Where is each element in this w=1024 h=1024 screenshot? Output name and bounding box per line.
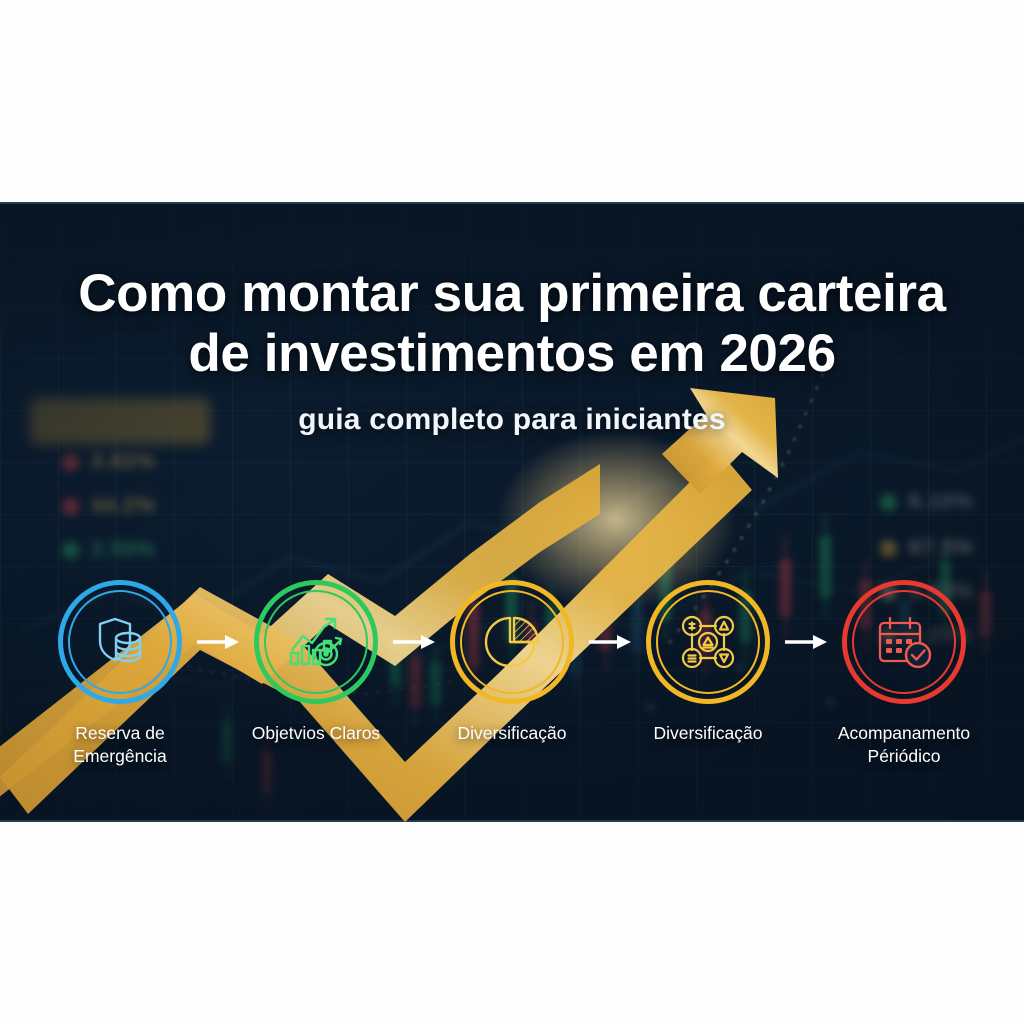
arrow-right-icon — [589, 633, 631, 651]
step-ring-1[interactable]: [data-name="step-ring-1"]::before,[data-… — [58, 580, 182, 704]
step-reserva-de-emergencia[interactable]: [data-name="step-ring-1"]::before,[data-… — [44, 580, 196, 769]
growth-chart-target-icon — [284, 610, 348, 674]
step-connector-1 — [196, 580, 240, 704]
step-label-3: Diversificação — [458, 722, 567, 745]
page-subtitle: guia completo para iniciantes — [40, 403, 984, 437]
banner-bottom-edge — [0, 820, 1024, 822]
page-title-line-1: Como montar sua primeira carteira — [40, 264, 984, 324]
step-ring-2[interactable]: [data-name="step-ring-2"]::before,[data-… — [254, 580, 378, 704]
arrow-right-icon — [197, 633, 239, 651]
pie-chart-icon — [480, 610, 544, 674]
network-nodes-icon — [676, 610, 740, 674]
steps-pipeline: [data-name="step-ring-1"]::before,[data-… — [0, 580, 1024, 769]
step-label-1: Reserva de Emergência — [45, 722, 195, 769]
step-objetvios-claros[interactable]: [data-name="step-ring-2"]::before,[data-… — [240, 580, 392, 745]
step-label-5: Acompanamento Périódico — [829, 722, 979, 769]
step-acompanamento-periodico[interactable]: [data-name="step-ring-5"]::before,[data-… — [828, 580, 980, 769]
step-label-4: Diversificação — [654, 722, 763, 745]
step-connector-4 — [784, 580, 828, 704]
step-connector-3 — [588, 580, 632, 704]
step-label-2: Objetvios Claros — [252, 722, 380, 745]
arrow-right-icon — [785, 633, 827, 651]
shield-coins-icon — [88, 610, 152, 674]
banner-top-edge — [0, 202, 1024, 204]
step-diversificacao-pie[interactable]: [data-name="step-ring-3"]::before,[data-… — [436, 580, 588, 745]
page-title-line-2: de investimentos em 2026 — [40, 324, 984, 384]
calendar-check-icon — [872, 610, 936, 674]
page-canvas: 3.82% 44.2% 2.50% 6.10% 67.3% 1.83% 0.23… — [0, 0, 1024, 1024]
step-connector-2 — [392, 580, 436, 704]
investment-guide-banner: 3.82% 44.2% 2.50% 6.10% 67.3% 1.83% 0.23… — [0, 202, 1024, 822]
step-ring-3[interactable]: [data-name="step-ring-3"]::before,[data-… — [450, 580, 574, 704]
step-ring-5[interactable]: [data-name="step-ring-5"]::before,[data-… — [842, 580, 966, 704]
step-diversificacao-network[interactable]: [data-name="step-ring-4"]::before,[data-… — [632, 580, 784, 745]
arrow-right-icon — [393, 633, 435, 651]
step-ring-4[interactable]: [data-name="step-ring-4"]::before,[data-… — [646, 580, 770, 704]
headline-block: Como montar sua primeira carteira de inv… — [0, 264, 1024, 437]
